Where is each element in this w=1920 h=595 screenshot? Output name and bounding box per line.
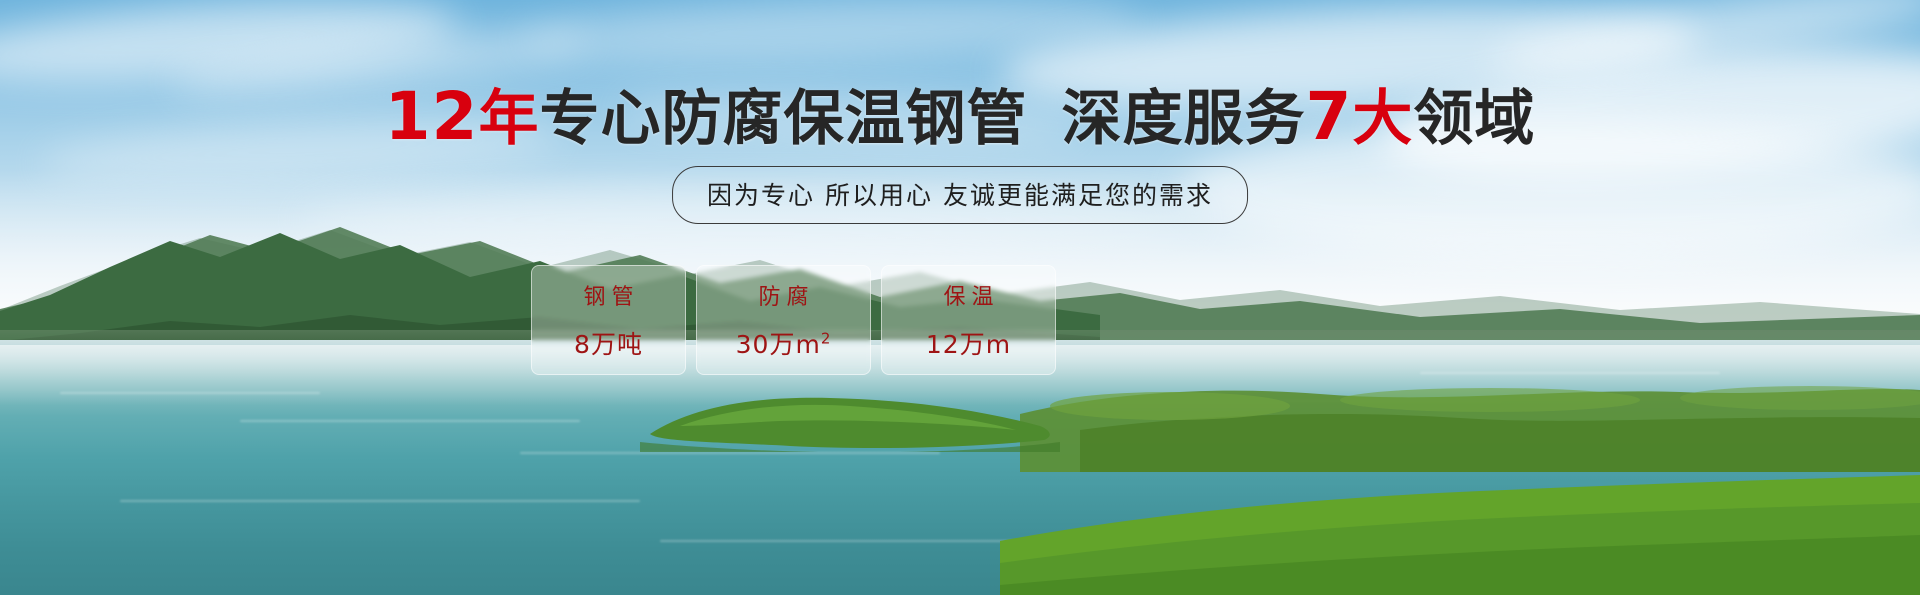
- stat-label: 钢管: [577, 279, 639, 311]
- stat-value-text: 12万m: [926, 330, 1011, 359]
- headline-tail-segment: 领域: [1413, 84, 1535, 154]
- hero-banner: 12年专心防腐保温钢管深度服务7大领域 因为专心 所以用心 友诚更能满足您的需求…: [0, 0, 1920, 595]
- stat-card-insulation: 保温 12万m: [881, 265, 1056, 375]
- stat-value-text: 30万m: [736, 330, 821, 359]
- water-ripple: [520, 452, 940, 454]
- water-ripple: [120, 500, 640, 502]
- stat-value-text: 8万吨: [574, 330, 643, 359]
- stat-card-steel-pipe: 钢管 8万吨: [531, 265, 686, 375]
- headline-years-unit: 年: [478, 84, 539, 154]
- stat-value: 12万m: [926, 325, 1011, 361]
- subtitle-pill: 因为专心 所以用心 友诚更能满足您的需求: [672, 166, 1248, 224]
- stat-label: 防腐: [752, 279, 814, 311]
- stat-value: 8万吨: [574, 325, 643, 361]
- grass-blades: [1000, 445, 1920, 595]
- stat-card-anticorrosion: 防腐 30万m2: [696, 265, 871, 375]
- headline-years-number: 12: [385, 78, 479, 155]
- headline: 12年专心防腐保温钢管深度服务7大领域: [0, 84, 1920, 150]
- headline-main-segment: 专心防腐保温钢管: [539, 84, 1027, 154]
- stat-label: 保温: [937, 279, 999, 311]
- stat-card-group: 钢管 8万吨 防腐 30万m2 保温 12万m: [531, 265, 1056, 375]
- water-ripple: [240, 420, 580, 422]
- headline-service-segment: 深度服务: [1061, 84, 1305, 154]
- headline-fields-unit: 大: [1352, 84, 1413, 154]
- stat-value: 30万m2: [736, 325, 832, 361]
- grass-foreground: [1000, 400, 1920, 595]
- center-islet: [640, 382, 1060, 452]
- water-ripple: [660, 540, 1040, 542]
- water-ripple: [60, 392, 320, 394]
- headline-fields-number: 7: [1305, 78, 1352, 155]
- stat-value-superscript: 2: [821, 330, 832, 348]
